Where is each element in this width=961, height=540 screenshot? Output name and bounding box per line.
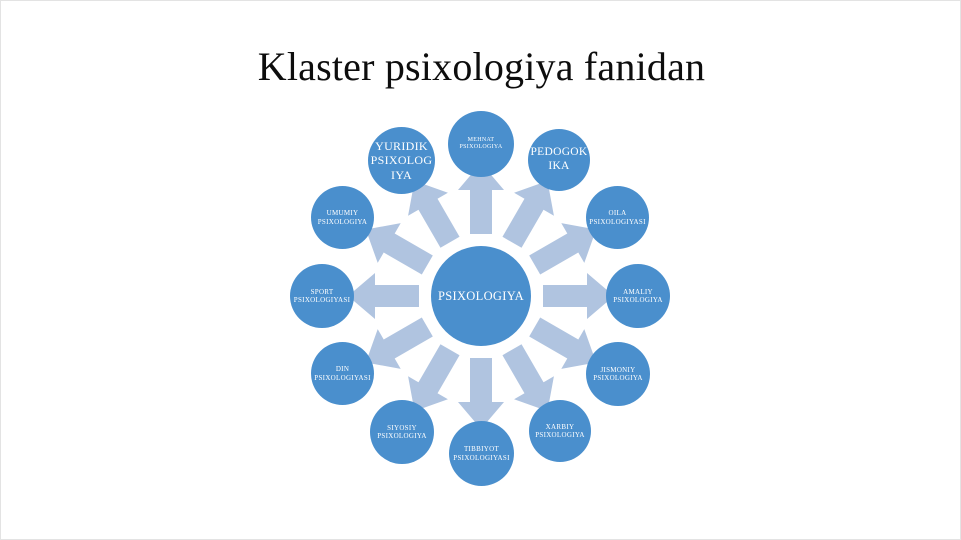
node-yuridik-label: YURIDIK PSIXOLOGIYA [370,139,433,181]
node-amaliy[interactable]: AMALIY PSIXOLOGIYA [606,264,670,328]
node-jismoniy-label: JISMONIY PSIXOLOGIYA [588,366,648,383]
node-xarbiy[interactable]: XARBIY PSIXOLOGIYA [529,400,591,462]
center-node[interactable]: PSIXOLOGIYA [431,246,531,346]
node-umumiy[interactable]: UMUMIY PSIXOLOGIYA [311,186,374,249]
arrow-to-sport [348,273,419,319]
node-oila[interactable]: OILA PSIXOLOGIYASI [586,186,649,249]
node-xarbiy-label: XARBIY PSIXOLOGIYA [531,423,589,440]
slide-canvas: Klaster psixologiya fanidan [0,0,961,540]
node-siyosiy[interactable]: SIYOSIY PSIXOLOGIYA [370,400,434,464]
node-oila-label: OILA PSIXOLOGIYASI [588,209,647,226]
node-siyosiy-label: SIYOSIY PSIXOLOGIYA [372,424,432,441]
node-din[interactable]: DIN PSIXOLOGIYASI [311,342,374,405]
node-mehnat-label: MEHNAT PSIXOLOGIYA [450,137,512,151]
radial-cycle-diagram: PSIXOLOGIYA MEHNAT PSIXOLOGIYA PEDOGOKIK… [1,1,961,540]
node-sport-label: SPORT PSIXOLOGIYASI [292,288,352,305]
node-din-label: DIN PSIXOLOGIYASI [313,365,372,382]
node-tibbiyot-label: TIBBIYOT PSIXOLOGIYASI [451,445,512,462]
arrow-to-tibbiyot [458,358,504,429]
node-amaliy-label: AMALIY PSIXOLOGIYA [608,288,668,305]
node-yuridik[interactable]: YURIDIK PSIXOLOGIYA [368,127,435,194]
node-pedogo[interactable]: PEDOGOKIKA [528,129,590,191]
node-tibbiyot[interactable]: TIBBIYOT PSIXOLOGIYASI [449,421,514,486]
node-jismoniy[interactable]: JISMONIY PSIXOLOGIYA [586,342,650,406]
node-umumiy-label: UMUMIY PSIXOLOGIYA [313,209,372,226]
node-sport[interactable]: SPORT PSIXOLOGIYASI [290,264,354,328]
center-node-label: PSIXOLOGIYA [434,289,528,304]
arrow-to-amaliy [543,273,614,319]
node-pedogo-label: PEDOGOKIKA [530,146,588,173]
node-mehnat[interactable]: MEHNAT PSIXOLOGIYA [448,111,514,177]
